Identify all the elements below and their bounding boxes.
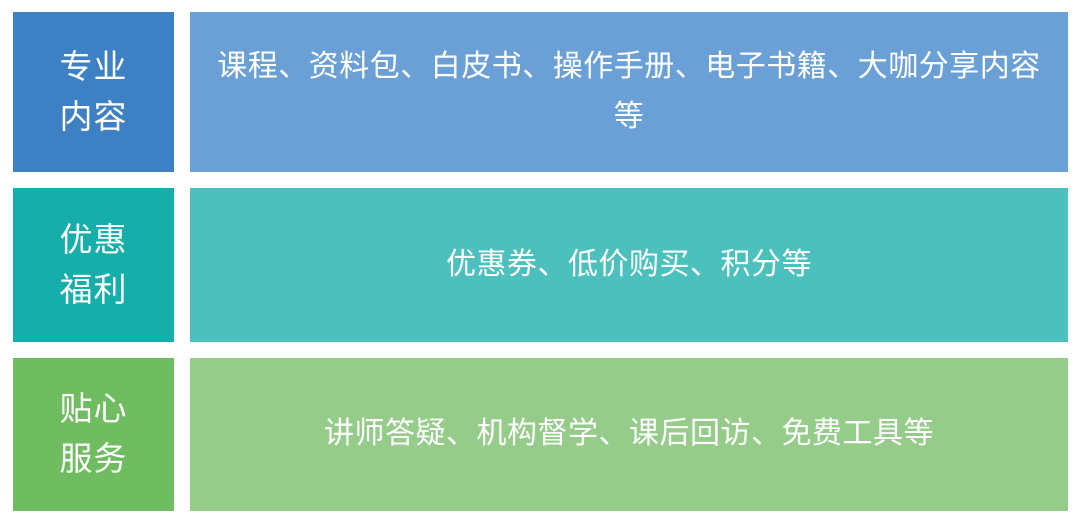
- row-content-text: 课程、资料包、白皮书、操作手册、电子书籍、大咖分享内容等: [216, 42, 1042, 142]
- row-label-discount-benefits: 优惠 福利: [13, 188, 174, 341]
- row-content-discount-benefits: 优惠券、低价购买、积分等: [190, 188, 1068, 341]
- row-label-professional-content: 专业 内容: [13, 12, 174, 172]
- row-content-professional-content: 课程、资料包、白皮书、操作手册、电子书籍、大咖分享内容等: [190, 12, 1068, 172]
- category-diagram: 专业 内容 课程、资料包、白皮书、操作手册、电子书籍、大咖分享内容等 优惠 福利…: [0, 0, 1080, 524]
- diagram-row-caring-service: 贴心 服务 讲师答疑、机构督学、课后回访、免费工具等: [13, 358, 1068, 511]
- row-content-text: 优惠券、低价购买、积分等: [446, 240, 812, 290]
- diagram-row-professional-content: 专业 内容 课程、资料包、白皮书、操作手册、电子书籍、大咖分享内容等: [13, 12, 1068, 172]
- row-content-text: 讲师答疑、机构督学、课后回访、免费工具等: [324, 409, 934, 459]
- row-content-caring-service: 讲师答疑、机构督学、课后回访、免费工具等: [190, 358, 1068, 511]
- diagram-row-discount-benefits: 优惠 福利 优惠券、低价购买、积分等: [13, 188, 1068, 341]
- row-label-caring-service: 贴心 服务: [13, 358, 174, 511]
